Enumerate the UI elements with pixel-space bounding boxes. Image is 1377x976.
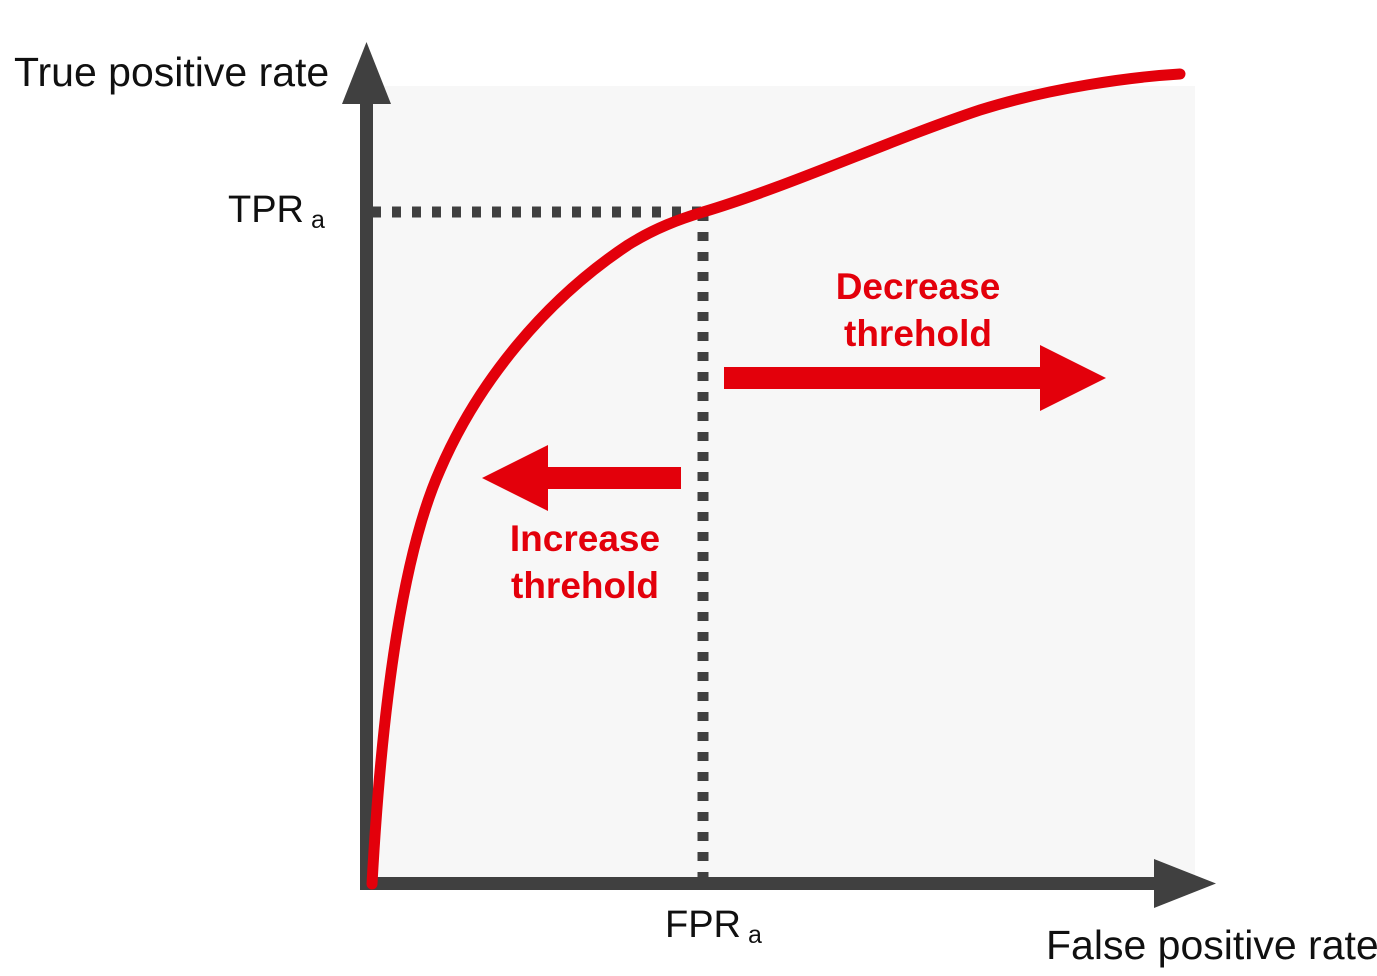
fpr-tick-subscript: a [748,921,762,949]
figure-graphics [0,0,1377,976]
tpr-tick-subscript: a [311,206,325,234]
x-axis-arrowhead [1154,859,1216,908]
fpr-tick-label: FPRa [665,906,762,944]
tpr-tick-base: TPR [228,189,304,231]
increase-threshold-arrow [482,445,681,511]
decrease-threshold-label: Decrease threhold [812,264,1024,358]
tpr-tick-label: TPRa [228,191,325,229]
roc-threshold-diagram: True positive rate False positive rate T… [0,0,1377,976]
fpr-tick-base: FPR [665,904,741,946]
x-axis-label: False positive rate [1046,925,1377,966]
increase-threshold-label: Increase threhold [487,516,683,610]
y-axis-arrowhead [342,42,391,104]
axis-x [360,859,1216,908]
y-axis-label: True positive rate [14,52,329,93]
